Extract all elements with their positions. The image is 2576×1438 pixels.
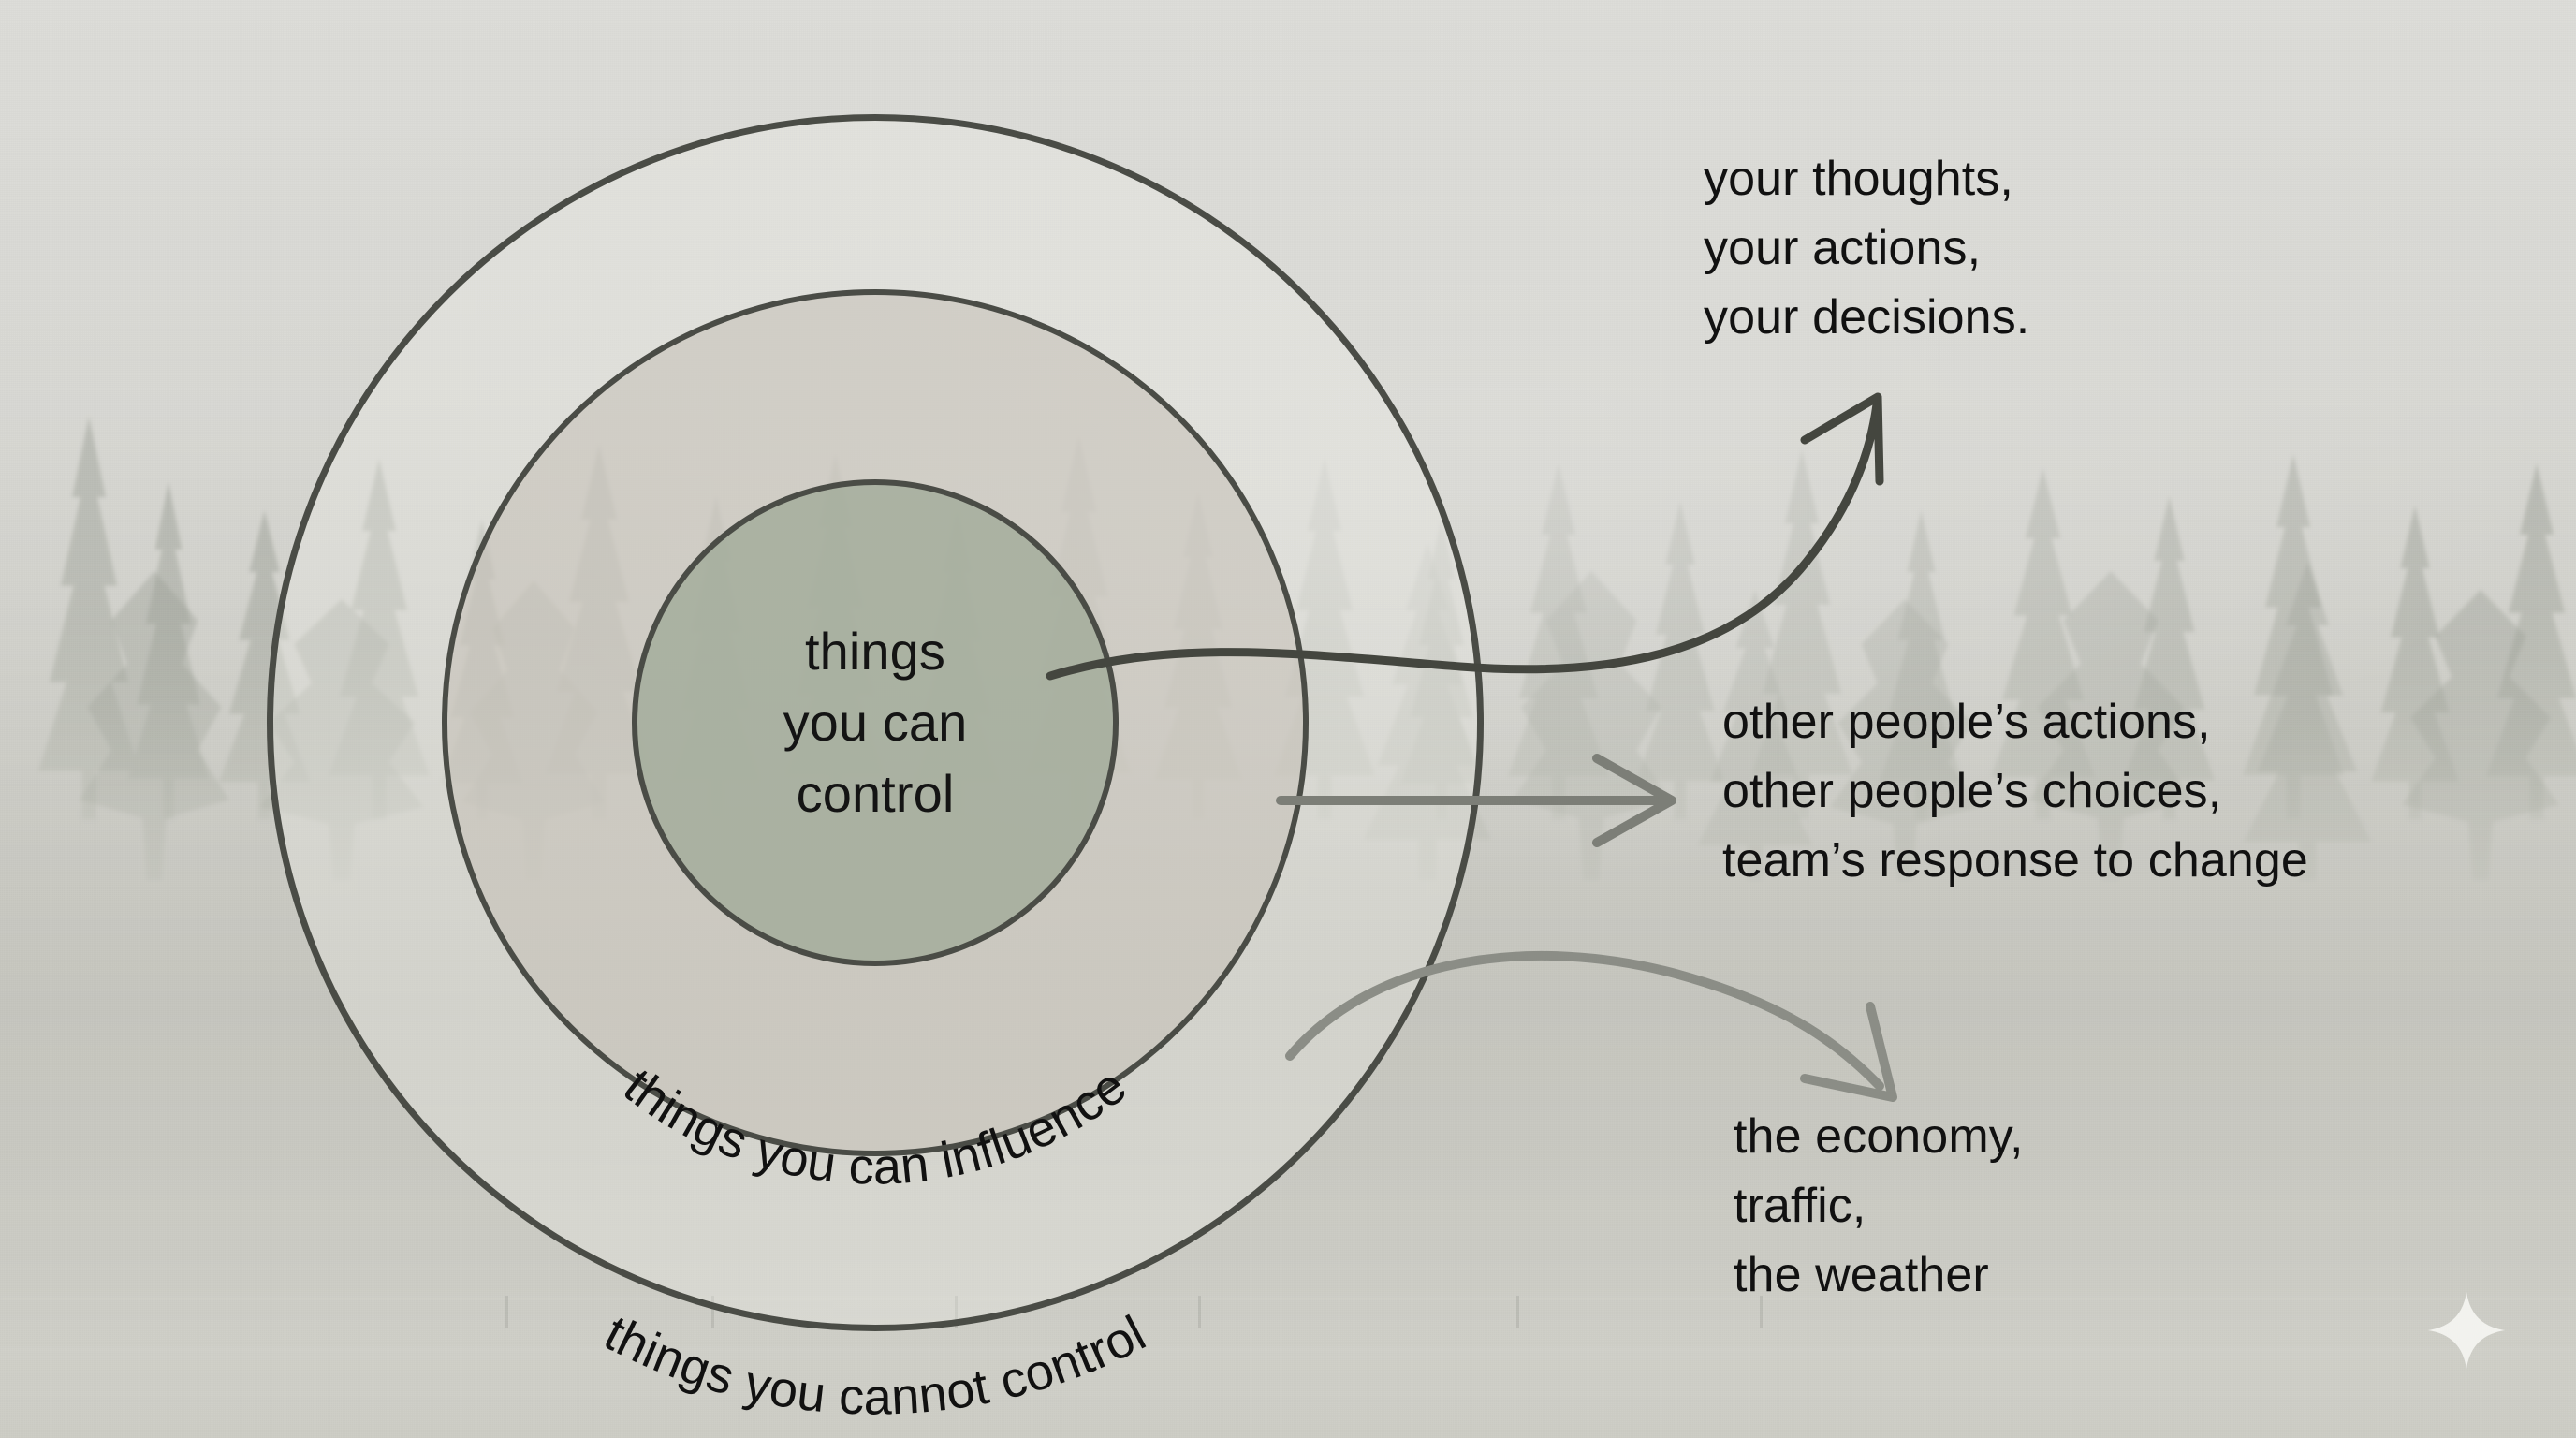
center-label-line-1: things xyxy=(805,616,945,687)
callout-cannot-line-3: the weather xyxy=(1734,1241,2024,1311)
callout-influence-line-1: other people’s actions, xyxy=(1722,688,2308,757)
callout-control-line-2: your actions, xyxy=(1704,214,2029,284)
callout-control-line-3: your decisions. xyxy=(1704,284,2029,353)
callout-influence-line-3: team’s response to change xyxy=(1722,827,2308,896)
callout-cannot-line-1: the economy, xyxy=(1734,1103,2024,1172)
sparkle-icon xyxy=(2426,1290,2507,1371)
callout-control-line-1: your thoughts, xyxy=(1704,145,2029,214)
center-label-line-2: you can xyxy=(783,687,968,758)
center-label-line-3: control xyxy=(797,758,955,829)
callout-things-you-cannot-control: the economy, traffic, the weather xyxy=(1734,1103,2024,1310)
callout-things-you-can-influence: other people’s actions, other people’s c… xyxy=(1722,688,2308,895)
callout-things-you-can-control: your thoughts, your actions, your decisi… xyxy=(1704,145,2029,352)
diagram-canvas: things you can control things you can in… xyxy=(0,0,2576,1438)
center-label: things you can control xyxy=(632,479,1119,966)
callout-influence-line-2: other people’s choices, xyxy=(1722,757,2308,827)
callout-cannot-line-2: traffic, xyxy=(1734,1172,2024,1241)
